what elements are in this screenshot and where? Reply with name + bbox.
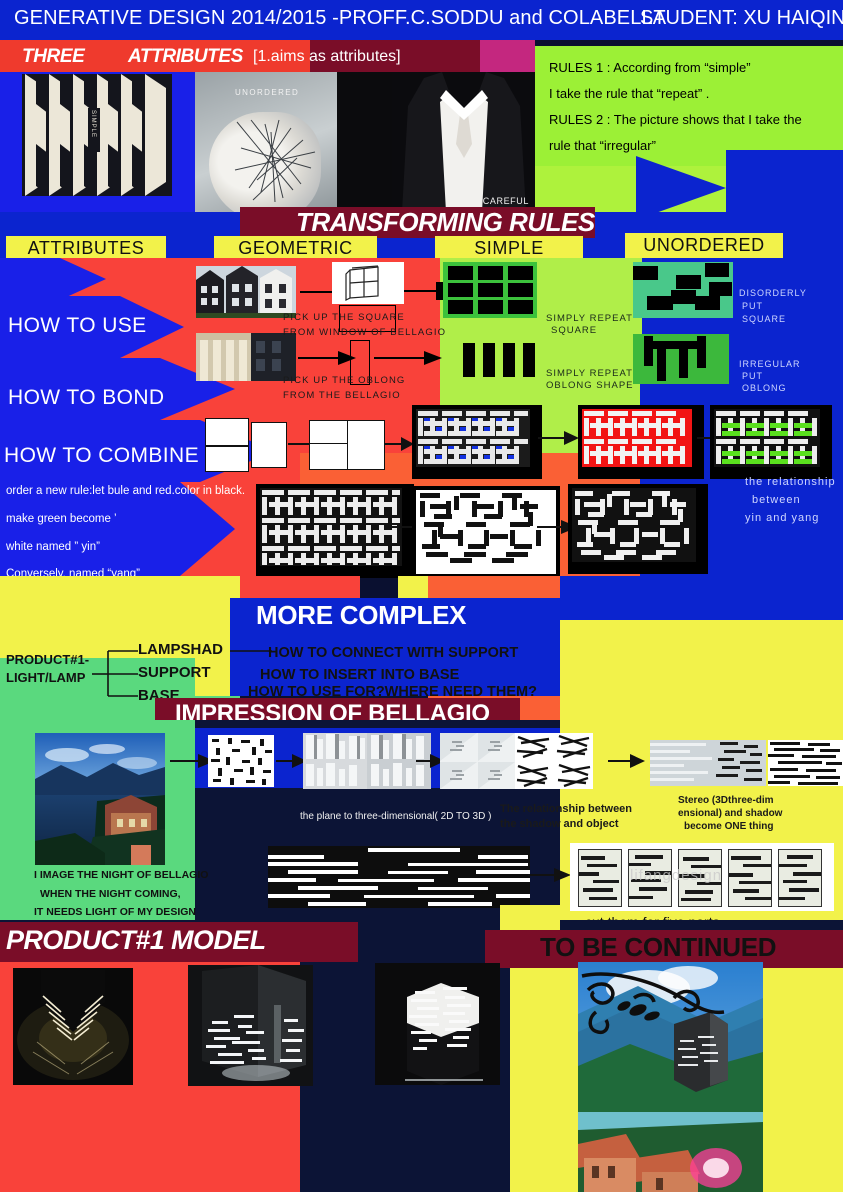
transforming-rules-heading: TRANSFORMING RULES bbox=[296, 207, 595, 238]
shape-white-rect-1 bbox=[205, 418, 249, 446]
needles-shape bbox=[231, 118, 323, 204]
image-shadow-wide bbox=[650, 740, 766, 786]
image-careful-suit: CAREFUL bbox=[392, 72, 535, 212]
pattern-weave-bw-3 bbox=[568, 484, 708, 574]
shape-white-rect-4 bbox=[309, 420, 349, 445]
caption-pick-square-2: FROM WINDOW OF BELLAGIO bbox=[283, 327, 446, 338]
yellow-tab bbox=[398, 576, 428, 600]
caption-stereo-2: ensional) and shadow bbox=[678, 808, 782, 819]
rules-line-2: I take the rule that “repeat” . bbox=[549, 86, 709, 101]
image-bw-abstract-tile bbox=[208, 735, 274, 787]
label-three: THREE bbox=[22, 46, 84, 68]
note-simply-repeat-1: SIMPLY REPEAT bbox=[546, 313, 633, 324]
label-aims-as-attributes: [1.aims as attributes] bbox=[253, 48, 401, 66]
image-window-sketch bbox=[332, 262, 404, 304]
lake-caption-2: WHEN THE NIGHT COMING, bbox=[40, 888, 181, 900]
blue-arrow-0-head-icon bbox=[60, 258, 106, 300]
to-be-continued-heading: TO BE CONTINUED bbox=[540, 932, 776, 963]
image-bellagio-houses bbox=[196, 266, 296, 318]
rules-arrow-body bbox=[726, 150, 843, 212]
rules-line-4: rule that “irregular” bbox=[549, 138, 656, 153]
product-tree-to-questions-line bbox=[230, 648, 272, 654]
rules-arrow-head-icon bbox=[636, 156, 726, 220]
pattern-repeat-square bbox=[443, 262, 537, 318]
order-rule-line-1: order a new rule:let bule and red.color … bbox=[6, 485, 245, 497]
student-name: STUDENT: XU HAIQING bbox=[640, 7, 843, 30]
note-irregular-put: PUT bbox=[742, 371, 763, 381]
note-disorderly-square: SQUARE bbox=[742, 314, 786, 324]
note-disorderly-put: PUT bbox=[742, 301, 763, 311]
weave-red-svg bbox=[582, 409, 692, 467]
caption-pick-oblong-2: FROM THE BELLAGIO bbox=[283, 390, 401, 401]
weave-bw-3-svg bbox=[572, 488, 696, 562]
part-card-5-svg bbox=[779, 850, 821, 906]
repeat-square-svg bbox=[443, 262, 537, 318]
orange-mid-strip bbox=[240, 576, 360, 600]
image-3d-extrusion bbox=[303, 733, 431, 789]
final-scene-svg bbox=[578, 962, 763, 1192]
caption-stereo-3: become ONE thing bbox=[684, 821, 773, 832]
shape-white-rect-5 bbox=[309, 443, 349, 470]
five-parts-panel: lifangdesign bbox=[570, 843, 834, 911]
careful-caption: CAREFUL bbox=[483, 196, 529, 206]
order-rule-line-3: white named ” yin” bbox=[6, 541, 100, 553]
caption-shadow-object-1: The relationship between bbox=[500, 803, 632, 815]
order-rule-line-2: make green become ’ bbox=[6, 513, 117, 525]
note-yinyang-3: yin and yang bbox=[745, 512, 819, 524]
image-simple-pattern: SIMPLE bbox=[22, 74, 172, 196]
shadow-wide2-svg bbox=[768, 740, 843, 786]
pattern-repeat-oblong bbox=[455, 338, 547, 382]
caption-stereo-1: Stereo (3Dthree-dim bbox=[678, 795, 774, 806]
houses-svg bbox=[196, 266, 296, 318]
note-simply-repeat-oblong: OBLONG SHAPE bbox=[546, 380, 634, 391]
rules-line-1: RULES 1 : According from “simple” bbox=[549, 60, 751, 75]
long-stripes-svg bbox=[268, 846, 530, 908]
weave-green-svg bbox=[714, 409, 820, 467]
arrow-stripes-to-parts-icon bbox=[528, 866, 572, 884]
image-lamp-model-2 bbox=[188, 965, 313, 1086]
label-how-to-bond: HOW TO BOND bbox=[8, 386, 164, 410]
shape-white-rect-2 bbox=[205, 446, 249, 472]
title-bar: GENERATIVE DESIGN 2014/2015 -PROFF.C.SOD… bbox=[0, 0, 843, 40]
caption-pick-square-1: PICK UP THE SQUARE bbox=[283, 312, 405, 323]
pattern-weave-red bbox=[578, 405, 704, 479]
columns-svg bbox=[196, 333, 296, 381]
image-bellagio-columns bbox=[196, 333, 296, 381]
note-simply-repeat-2: SIMPLY REPEAT bbox=[546, 368, 633, 379]
label-attributes: ATTRIBUTES bbox=[128, 46, 243, 68]
part-card-1 bbox=[578, 849, 622, 907]
product-part-support: SUPPORT bbox=[138, 664, 211, 681]
pattern-weave-green bbox=[710, 405, 832, 479]
note-irregular: IRREGULAR bbox=[739, 359, 801, 369]
suit-svg bbox=[392, 72, 535, 212]
caption-plane-to-3d: the plane to three-dimensional( 2D TO 3D… bbox=[300, 811, 491, 822]
part-card-5 bbox=[778, 849, 822, 907]
image-long-stripes bbox=[268, 846, 530, 908]
caption-pick-oblong-1: PICK UP THE OBLONG bbox=[283, 375, 405, 386]
image-shadow-gradient-tiles bbox=[440, 733, 515, 789]
repeat-oblong-svg bbox=[455, 338, 547, 382]
image-dark-filler bbox=[337, 72, 392, 212]
weave-bw-2-svg bbox=[416, 490, 548, 566]
shape-white-rect-6 bbox=[347, 420, 385, 470]
pattern-irregular-oblong bbox=[633, 334, 729, 384]
bw-tile-svg bbox=[208, 735, 274, 787]
blue-arrow-0 bbox=[0, 258, 60, 300]
tag-unordered: UNORDERED bbox=[625, 233, 783, 258]
pattern-weave-blue bbox=[412, 405, 542, 479]
unordered-caption: UNORDERED bbox=[235, 88, 299, 97]
lamp2-svg bbox=[188, 965, 313, 1086]
lamp3-svg bbox=[375, 963, 500, 1085]
question-connect-support: HOW TO CONNECT WITH SUPPORT bbox=[268, 645, 518, 661]
arrow-weave-1-icon bbox=[538, 429, 580, 447]
image-to-be-continued-scene bbox=[578, 962, 763, 1192]
lake-caption-1: I IMAGE THE NIGHT OF BELLAGIO bbox=[34, 869, 208, 881]
more-complex-heading: MORE COMPLEX bbox=[256, 600, 466, 631]
label-how-to-combine: HOW TO COMBINE bbox=[4, 444, 199, 468]
note-yinyang-1: the relationship bbox=[745, 476, 836, 488]
irregular-oblong-svg bbox=[633, 334, 729, 384]
blue-right-low bbox=[560, 576, 843, 620]
lake-caption-3: IT NEEDS LIGHT OF MY DESIGN bbox=[34, 906, 196, 918]
caption-shadow-object-2: the shadow and object bbox=[500, 818, 619, 830]
lamp1-svg bbox=[13, 968, 133, 1085]
scratch-tiles-svg bbox=[515, 733, 593, 789]
question-insert-base: HOW TO INSERT INTO BASE bbox=[260, 667, 459, 683]
rules-line-3: RULES 2 : The picture shows that I take … bbox=[549, 112, 802, 127]
image-bellagio-night-lake bbox=[35, 733, 165, 865]
image-lamp-model-3 bbox=[375, 963, 500, 1085]
label-how-to-use: HOW TO USE bbox=[8, 314, 147, 338]
shape-white-rect-3 bbox=[251, 422, 287, 468]
weave-blue-svg bbox=[416, 409, 530, 467]
product-model-heading: PRODUCT#1 MODEL bbox=[6, 925, 266, 956]
window-sketch-svg bbox=[332, 262, 404, 304]
product-part-lampshad: LAMPSHAD bbox=[138, 641, 223, 658]
simple-pattern-svg bbox=[22, 74, 172, 196]
arrow-columns-to-oblong-icon bbox=[298, 348, 358, 368]
part-card-1-svg bbox=[579, 850, 621, 906]
part-card-4-svg bbox=[729, 850, 771, 906]
arrow-to-stereo-icon bbox=[608, 752, 646, 770]
product-tree-root-line2: LIGHT/LAMP bbox=[6, 670, 85, 685]
arrow-combine-2-icon bbox=[385, 435, 415, 453]
pattern-disorderly-square bbox=[633, 262, 733, 318]
simple-word-label: SIMPLE bbox=[90, 110, 96, 138]
weave-bw-1-svg bbox=[260, 488, 402, 566]
note-irregular-oblong: OBLONG bbox=[742, 383, 787, 393]
watermark: lifangdesign bbox=[630, 867, 722, 884]
lake-svg bbox=[35, 733, 165, 865]
shadow-tiles-svg bbox=[440, 733, 515, 789]
image-shadow-wide-2 bbox=[768, 740, 843, 786]
page-title: GENERATIVE DESIGN 2014/2015 -PROFF.C.SOD… bbox=[14, 7, 666, 30]
note-yinyang-2: between bbox=[752, 494, 801, 506]
poster-canvas: GENERATIVE DESIGN 2014/2015 -PROFF.C.SOD… bbox=[0, 0, 843, 1192]
attributes-band-magenta bbox=[480, 40, 535, 72]
image-black-scratch-tiles bbox=[515, 733, 593, 789]
shadow-wide-svg bbox=[650, 740, 766, 786]
rules-panel: RULES 1 : According from “simple” I take… bbox=[535, 46, 843, 166]
product-tree-root-line1: PRODUCT#1- bbox=[6, 652, 89, 667]
image-lamp-model-1 bbox=[13, 968, 133, 1085]
part-card-4 bbox=[728, 849, 772, 907]
disorderly-square-svg bbox=[633, 262, 733, 318]
gray3d-svg bbox=[303, 733, 431, 789]
note-disorderly: DISORDERLY bbox=[739, 288, 807, 298]
note-simply-repeat-square: SQUARE bbox=[551, 325, 597, 336]
image-unordered-hand: UNORDERED bbox=[195, 72, 337, 212]
arrow-oblong-to-repeat-icon bbox=[374, 348, 444, 368]
